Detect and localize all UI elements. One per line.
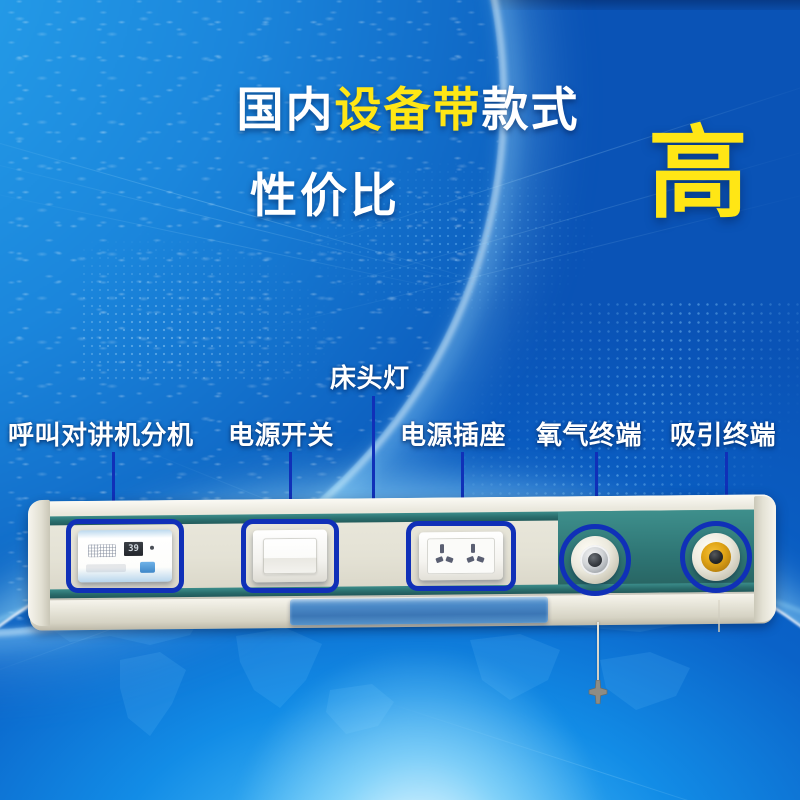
highlight-box-intercom: [66, 519, 184, 593]
panel-left-endcap: [28, 500, 50, 626]
callout-label-oxygen-terminal: 氧气终端: [536, 415, 642, 452]
callout-label-bed-lamp: 床头灯: [330, 358, 410, 395]
callout-labels: 呼叫对讲机分机 电源开关 床头灯 电源插座 氧气终端 吸引终端: [0, 0, 800, 800]
pull-cord[interactable]: [597, 622, 599, 684]
callout-label-suction-terminal: 吸引终端: [670, 415, 776, 452]
highlight-box-power-socket: [406, 521, 516, 591]
highlight-circle-suction: [680, 521, 752, 593]
panel-blue-guard-rail: [290, 597, 548, 625]
highlight-box-power-switch: [241, 519, 339, 593]
callout-label-nurse-call-intercom: 呼叫对讲机分机: [8, 415, 194, 452]
callout-label-power-socket: 电源插座: [400, 415, 506, 452]
pull-cord-secondary[interactable]: [718, 600, 720, 632]
highlight-circle-oxygen: [559, 524, 631, 596]
callout-label-power-switch: 电源开关: [228, 415, 334, 452]
pull-cord-handle-icon[interactable]: [588, 680, 608, 704]
panel-right-endcap: [754, 496, 776, 622]
product-banner: 国内设备带款式 性价比 高 呼叫对讲机分机 电源开关 床头灯 电源插座 氧气终端…: [0, 0, 800, 800]
